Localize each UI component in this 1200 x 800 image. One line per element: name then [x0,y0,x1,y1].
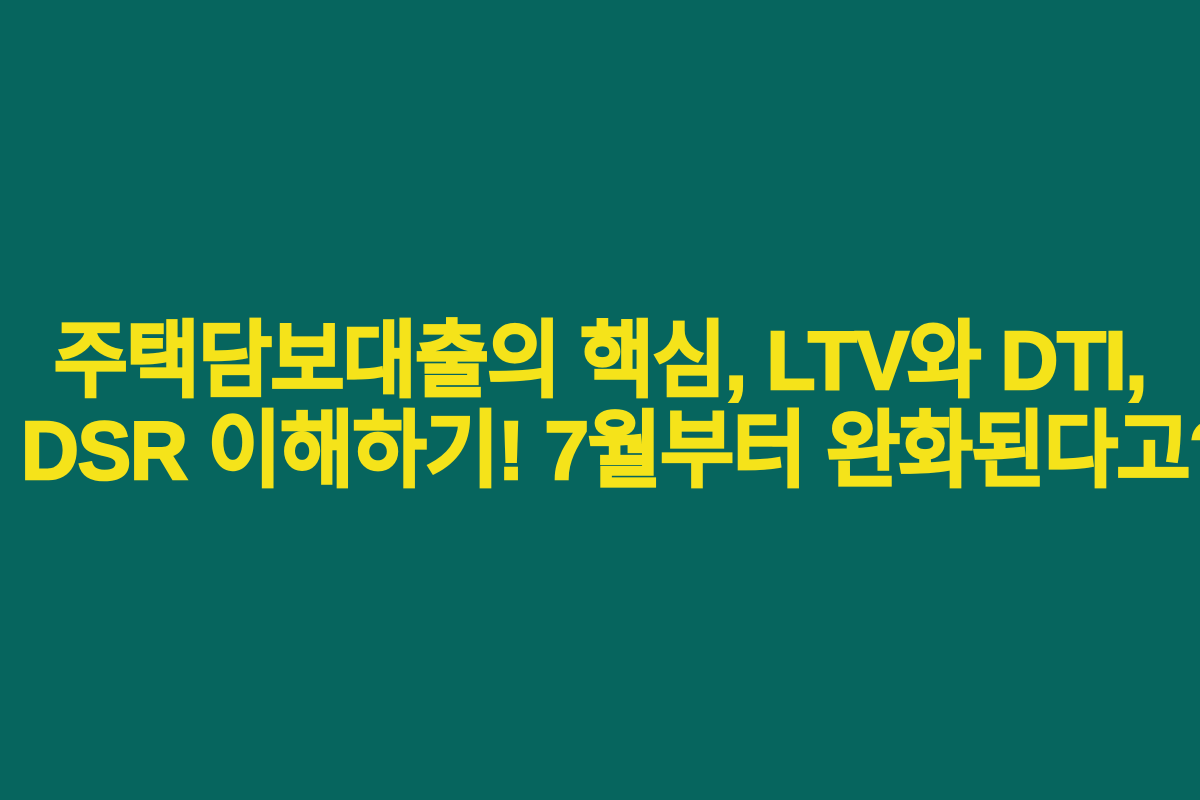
title-block: 주택담보대출의 핵심, LTV와 DTI, DSR 이해하기! 7월부터 완화된… [0,316,1200,496]
thumbnail-card: 주택담보대출의 핵심, LTV와 DTI, DSR 이해하기! 7월부터 완화된… [0,0,1200,800]
title-line-2: DSR 이해하기! 7월부터 완화된다고? [21,406,1179,496]
title-line-1: 주택담보대출의 핵심, LTV와 DTI, [21,316,1179,406]
